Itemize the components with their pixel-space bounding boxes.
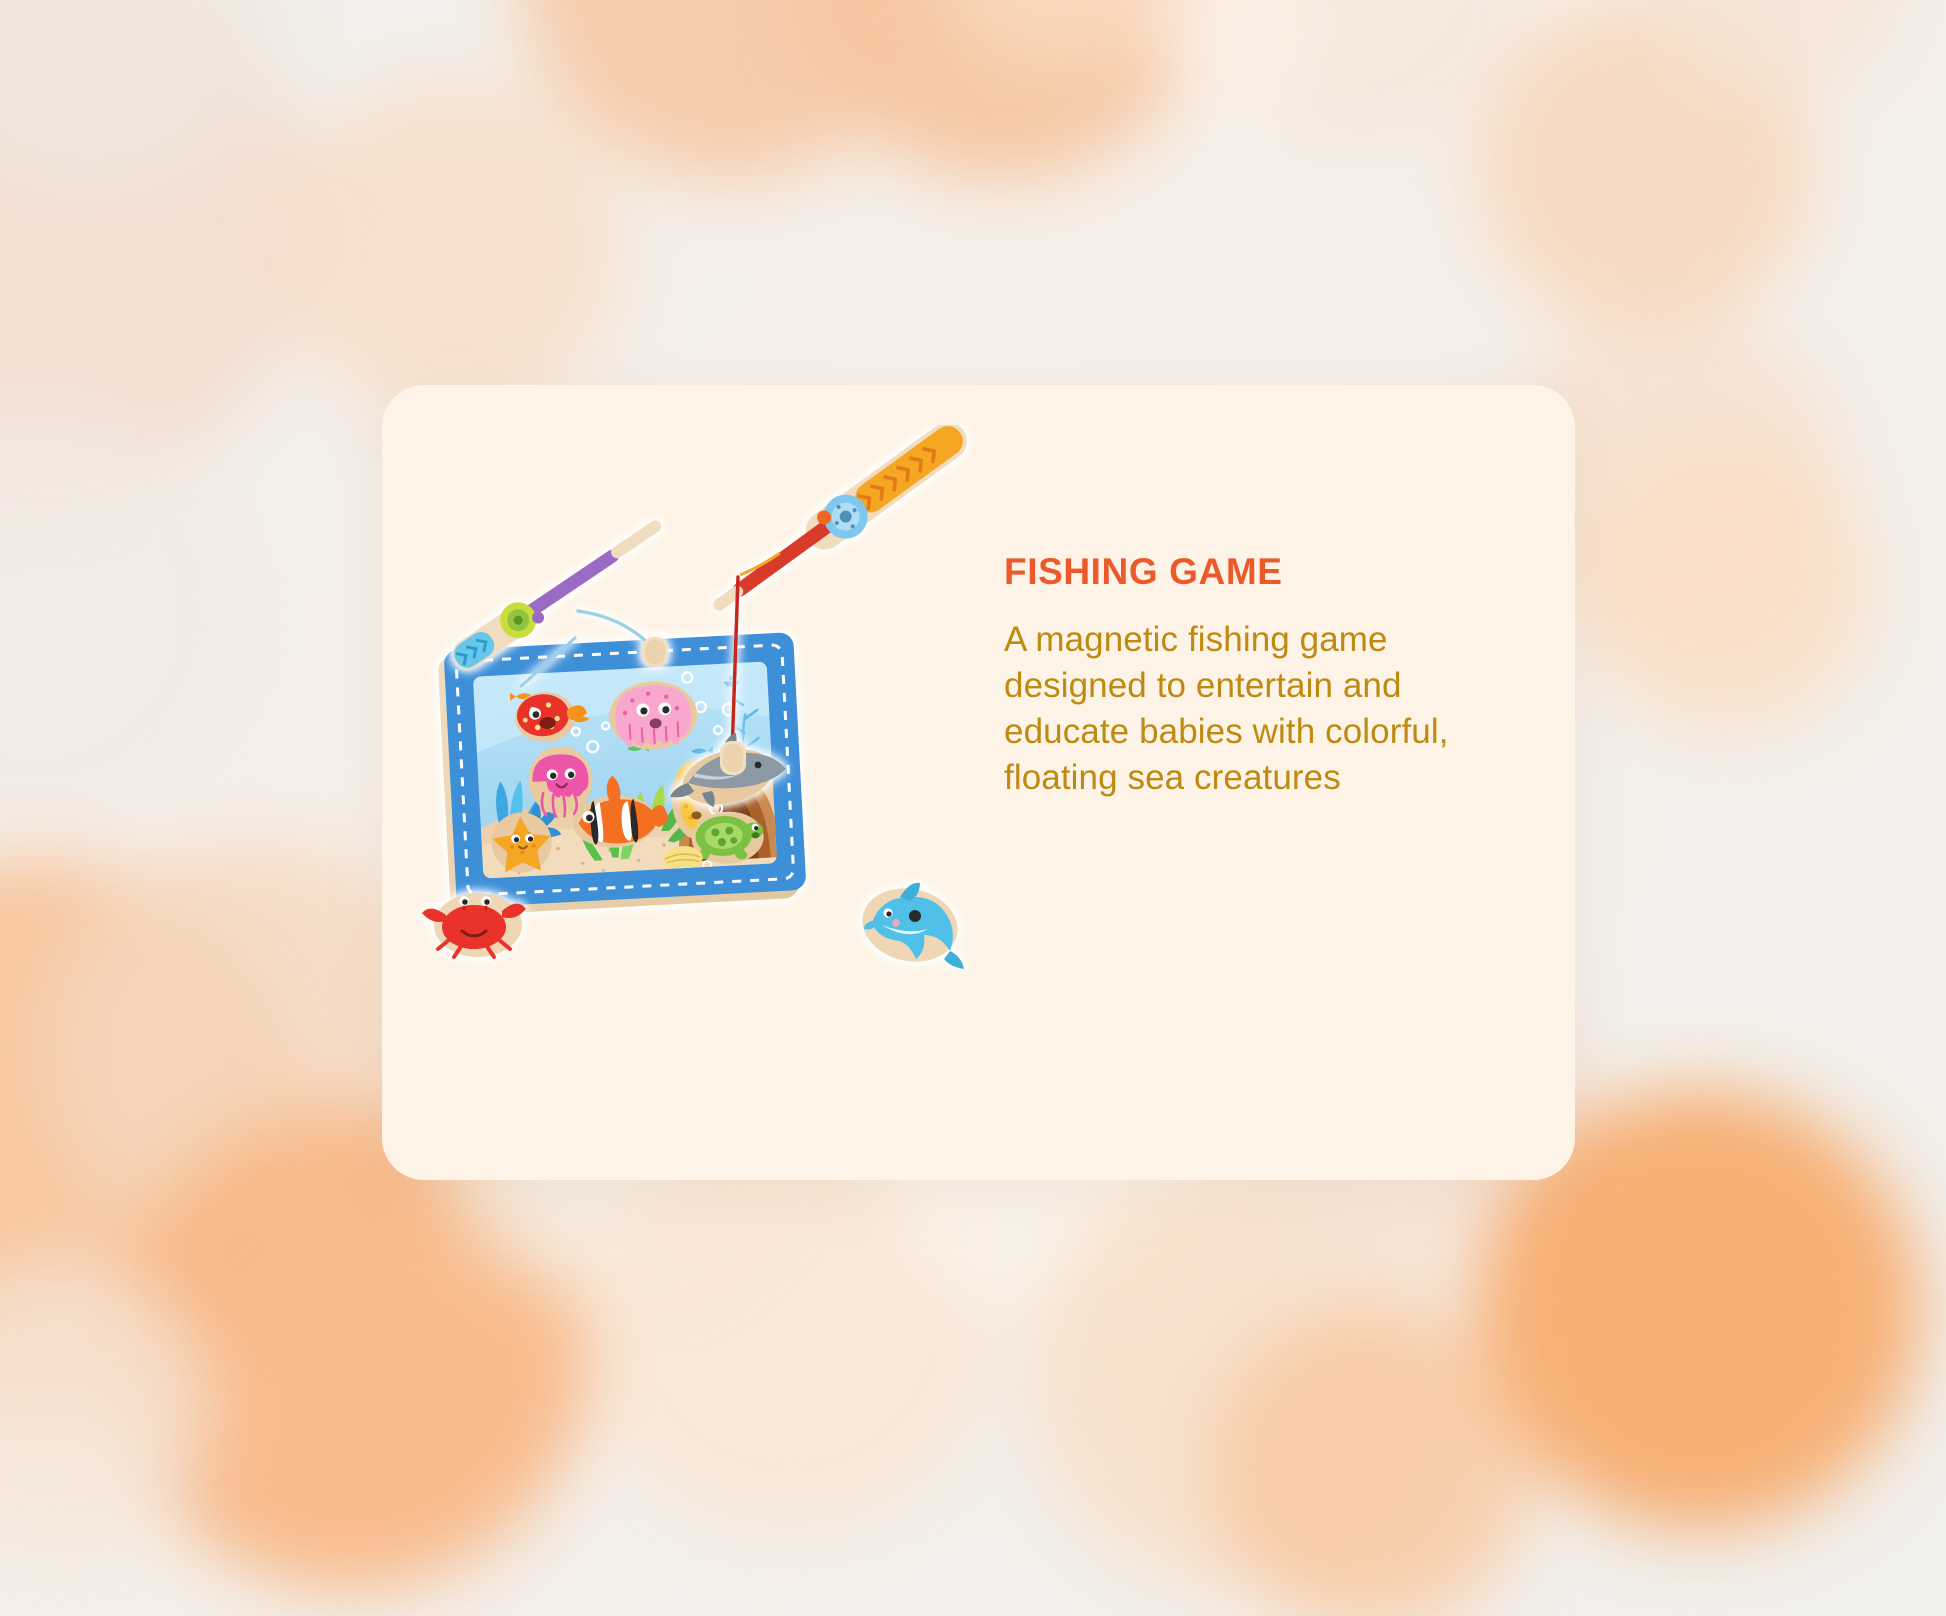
bokeh-circle bbox=[1210, 1310, 1530, 1616]
dolphin-piece bbox=[856, 880, 965, 970]
game-board bbox=[402, 425, 807, 916]
product-description: A magnetic fishing game designed to ente… bbox=[1004, 617, 1524, 802]
product-text-column: FISHING GAME A magnetic fishing game des… bbox=[1004, 552, 1524, 801]
product-illustration bbox=[402, 425, 1012, 1145]
magnet-bob bbox=[642, 637, 668, 667]
page-title: FISHING GAME bbox=[1004, 552, 1524, 593]
bokeh-circle bbox=[280, 80, 620, 420]
orange-fishing-rod bbox=[670, 425, 977, 813]
bokeh-circle bbox=[0, 400, 250, 830]
product-card: FISHING GAME A magnetic fishing game des… bbox=[382, 385, 1575, 1180]
bokeh-circle bbox=[1580, 440, 1870, 730]
